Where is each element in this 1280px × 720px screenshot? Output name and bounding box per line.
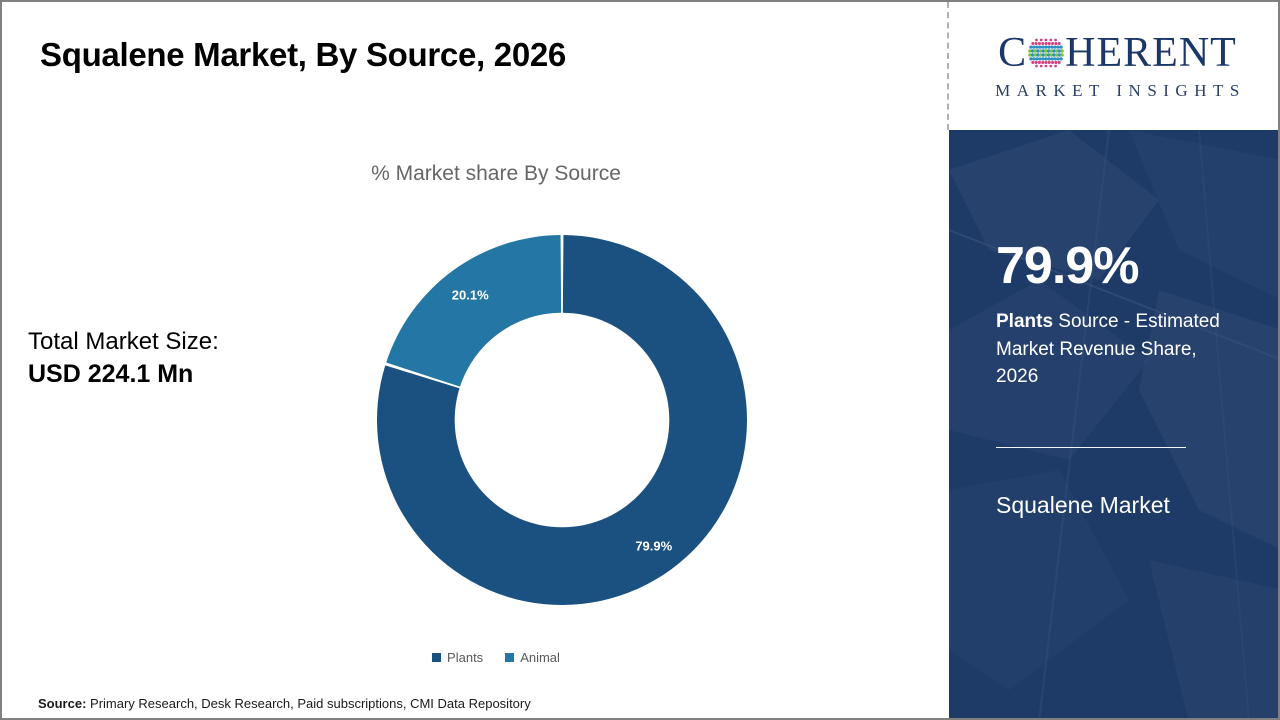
highlight-percentage: 79.9% (996, 240, 1234, 292)
legend-item-plants[interactable]: Plants (432, 650, 483, 665)
legend-swatch-animal (505, 653, 514, 662)
page-title: Squalene Market, By Source, 2026 (40, 36, 566, 74)
panel-divider-rule (996, 447, 1186, 448)
globe-dots-icon (1028, 35, 1064, 71)
source-footer: Source: Primary Research, Desk Research,… (38, 696, 531, 711)
highlight-panel-content: 79.9% Plants Source - Estimated Market R… (949, 240, 1280, 519)
donut-chart: 79.9% 20.1% (377, 235, 747, 605)
legend-swatch-plants (432, 653, 441, 662)
legend-label: Plants (447, 650, 483, 665)
logo-wordmark: C HERENT (998, 32, 1237, 74)
source-footer-label: Source: (38, 696, 86, 711)
total-market-size-label: Total Market Size: (28, 326, 219, 358)
logo-word-before: C (998, 32, 1027, 74)
logo-subtitle: MARKET INSIGHTS (989, 81, 1246, 101)
source-footer-text: Primary Research, Desk Research, Paid su… (90, 696, 531, 711)
total-market-size-value: USD 224.1 Mn (28, 358, 219, 391)
slice-label-plants: 79.9% (635, 538, 672, 553)
donut-slice-animal (386, 235, 561, 387)
highlight-description: Plants Source - Estimated Market Revenue… (996, 308, 1234, 391)
company-logo: C HERENT MARKET INSIGHTS (953, 2, 1280, 130)
chart-legend: PlantsAnimal (24, 650, 968, 665)
chart-subtitle: % Market share By Source (24, 162, 968, 186)
highlight-panel: 79.9% Plants Source - Estimated Market R… (949, 130, 1280, 720)
total-market-size-block: Total Market Size: USD 224.1 Mn (28, 326, 219, 391)
highlight-description-bold: Plants (996, 311, 1053, 332)
legend-item-animal[interactable]: Animal (505, 650, 560, 665)
infographic-page: Squalene Market, By Source, 2026 % Marke… (0, 0, 1280, 720)
logo-word-after: HERENT (1065, 32, 1237, 74)
donut-chart-svg: 79.9% 20.1% (377, 235, 747, 605)
vertical-dashed-divider (947, 2, 949, 130)
panel-market-name: Squalene Market (996, 492, 1234, 520)
slice-label-animal: 20.1% (452, 288, 489, 303)
legend-label: Animal (520, 650, 560, 665)
